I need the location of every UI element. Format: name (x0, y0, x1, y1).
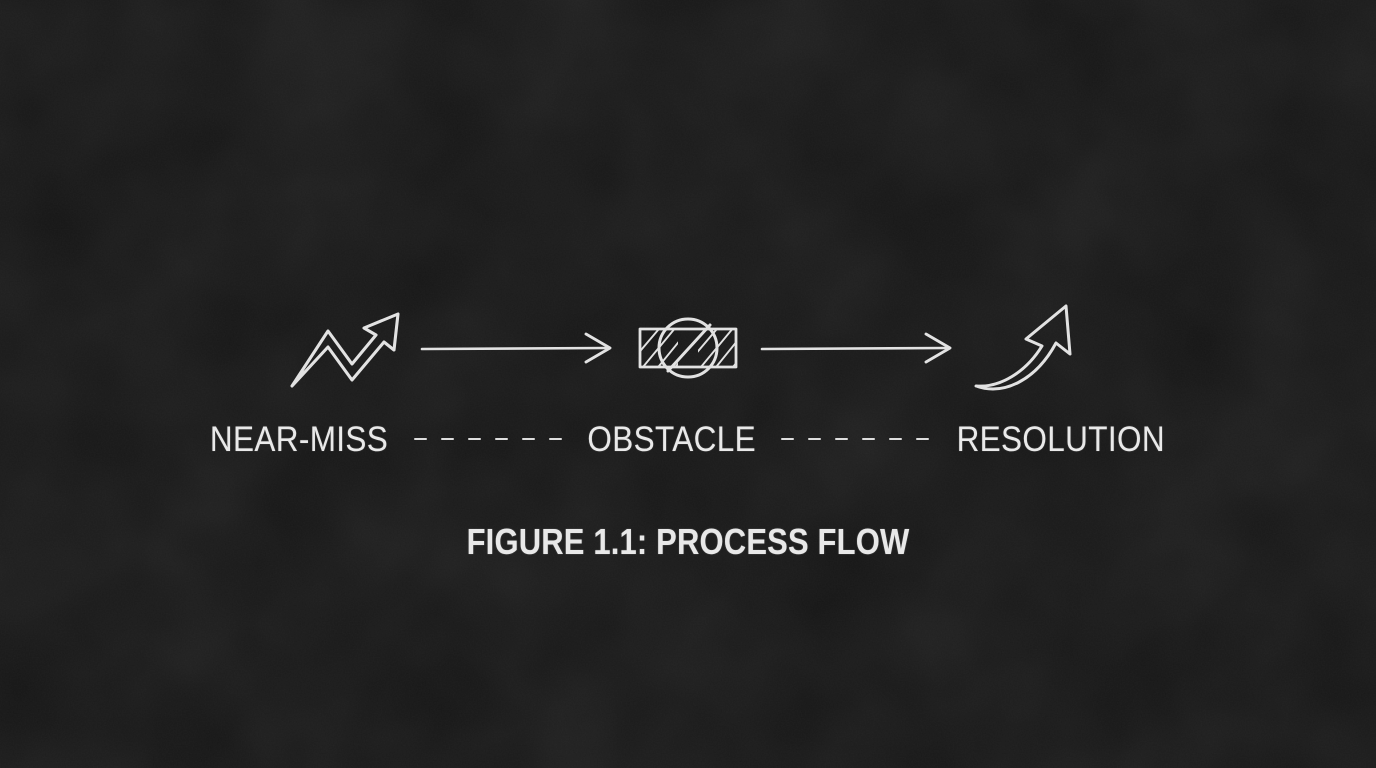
dash-segment (862, 438, 875, 441)
dash-segment (916, 438, 929, 441)
dash-segment (441, 438, 454, 441)
dash-segment (414, 438, 427, 441)
process-flow-figure: NEAR-MISS OBSTACLE RESOLUTION FIGURE 1.1… (0, 0, 1376, 768)
flow-icon-row (0, 296, 1376, 400)
dash-segment (468, 438, 481, 441)
zigzag-trend-arrow-icon (286, 304, 410, 392)
figure-caption: FIGURE 1.1: PROCESS FLOW (96, 524, 1279, 560)
label-dashed-link-1 (398, 438, 578, 441)
hatched-blocked-circle-icon (630, 305, 746, 391)
flow-node-label-resolution: RESOLUTION (956, 422, 1164, 457)
dash-segment (522, 438, 535, 441)
flow-connector-arrow-1 (414, 328, 622, 368)
flow-node-icon-near-miss (282, 296, 414, 400)
flow-node-label-near-miss: NEAR-MISS (209, 422, 387, 457)
dash-segment (549, 438, 562, 441)
dash-segment (835, 438, 848, 441)
flow-node-label-obstacle: OBSTACLE (587, 422, 756, 457)
curved-rising-arrow-icon (970, 302, 1086, 394)
label-dashed-link-2 (765, 438, 945, 441)
flow-label-row: NEAR-MISS OBSTACLE RESOLUTION (0, 414, 1376, 464)
flow-node-icon-obstacle (622, 296, 754, 400)
dash-segment (495, 438, 508, 441)
right-arrow-icon (760, 331, 956, 365)
dash-segment (889, 438, 902, 441)
dash-segment (781, 438, 794, 441)
flow-node-icon-resolution (962, 296, 1094, 400)
right-arrow-icon (420, 331, 616, 365)
dash-segment (808, 438, 821, 441)
flow-connector-arrow-2 (754, 328, 962, 368)
